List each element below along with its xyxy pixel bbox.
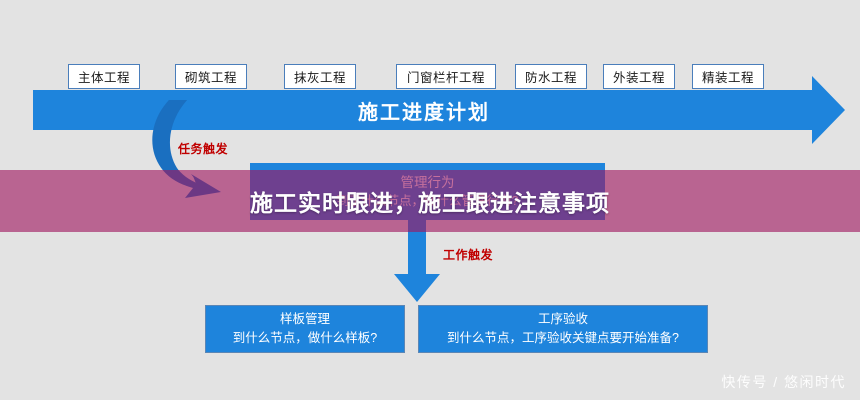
result-box-sample-management: 样板管理 到什么节点，做什么样板?	[205, 305, 405, 353]
result-box-subtitle: 到什么节点，工序验收关键点要开始准备?	[447, 329, 679, 348]
phase-box: 主体工程	[68, 64, 140, 89]
watermark: 快传号 / 悠闲时代	[721, 372, 846, 392]
phase-box-label: 防水工程	[525, 67, 577, 86]
phase-box: 防水工程	[515, 64, 587, 89]
work-trigger-label: 工作触发	[443, 246, 493, 263]
headline-banner-text-wrap: 施工实时跟进，施工跟进注意事项	[0, 170, 860, 232]
result-box-title: 工序验收	[538, 310, 588, 329]
phase-box: 门窗栏杆工程	[396, 64, 496, 89]
phase-box-label: 外装工程	[613, 67, 665, 86]
result-box-title: 样板管理	[280, 310, 330, 329]
phase-box: 精装工程	[692, 64, 764, 89]
phase-box-label: 门窗栏杆工程	[407, 67, 485, 86]
phase-box: 抹灰工程	[284, 64, 356, 89]
phase-box: 外装工程	[603, 64, 675, 89]
phase-box: 砌筑工程	[175, 64, 247, 89]
infographic-canvas: 主体工程 砌筑工程 抹灰工程 门窗栏杆工程 防水工程 外装工程 精装工程 施工进…	[0, 0, 860, 400]
headline-text: 施工实时跟进，施工跟进注意事项	[250, 184, 610, 218]
progress-arrow-label: 施工进度计划	[358, 96, 490, 125]
result-box-subtitle: 到什么节点，做什么样板?	[233, 329, 377, 348]
task-trigger-label: 任务触发	[178, 140, 228, 157]
result-box-process-acceptance: 工序验收 到什么节点，工序验收关键点要开始准备?	[418, 305, 708, 353]
phase-box-label: 主体工程	[78, 67, 130, 86]
phase-box-label: 砌筑工程	[185, 67, 237, 86]
phase-box-label: 抹灰工程	[294, 67, 346, 86]
phase-box-label: 精装工程	[702, 67, 754, 86]
progress-arrow-head-icon	[812, 76, 845, 144]
